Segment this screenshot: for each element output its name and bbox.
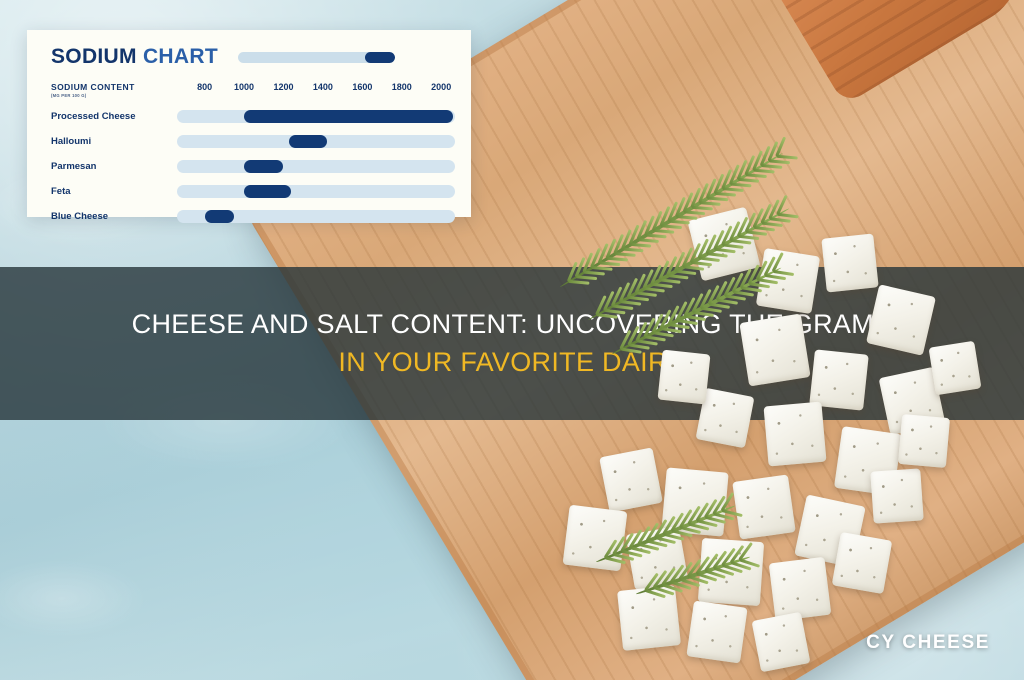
bar-row: Parmesan <box>51 154 455 179</box>
bar-track <box>177 185 455 198</box>
bar-track <box>177 160 455 173</box>
feta-cube <box>599 447 663 512</box>
feta-cube <box>929 341 982 396</box>
header-meter-track <box>238 52 395 63</box>
bar-fill-blue-cheese <box>205 210 235 223</box>
axis-tick-2000: 2000 <box>431 82 451 92</box>
feta-cube <box>739 314 810 387</box>
watermark-logo: CY CHEESE <box>866 632 990 654</box>
card-header: SODIUM CHART <box>51 42 455 72</box>
feta-cube <box>769 557 832 621</box>
axis-tick-1000: 1000 <box>234 82 254 92</box>
axis-tick-1800: 1800 <box>392 82 412 92</box>
bar-fill-parmesan <box>244 160 283 173</box>
bar-track <box>177 110 455 123</box>
axis-tick-800: 800 <box>197 82 212 92</box>
axis-tick-1600: 1600 <box>352 82 372 92</box>
bar-row: Feta <box>51 179 455 204</box>
feta-cube <box>686 601 747 664</box>
axis-subtitle: (MG PER 100 G) <box>51 93 177 98</box>
feta-cube <box>832 532 893 594</box>
feta-cube <box>763 402 826 467</box>
bar-fill-halloumi <box>289 135 326 148</box>
bar-track <box>177 210 455 223</box>
axis-tick-1400: 1400 <box>313 82 333 92</box>
feta-cube <box>898 414 950 468</box>
bar-fill-feta <box>244 185 291 198</box>
axis-row: SODIUM CONTENT (MG PER 100 G) 8001000120… <box>51 82 455 104</box>
bar-label-feta: Feta <box>51 186 177 197</box>
bar-track <box>177 135 455 148</box>
chart-title-part-2: CHART <box>143 45 218 68</box>
bar-label-halloumi: Halloumi <box>51 136 177 147</box>
axis-title: SODIUM CONTENT <box>51 82 177 92</box>
chart-title-part-1: SODIUM <box>51 45 137 68</box>
header-meter-fill <box>365 52 395 63</box>
bar-row: Halloumi <box>51 129 455 154</box>
feta-cube <box>870 468 924 523</box>
bar-fill-processed-cheese <box>244 110 453 123</box>
feta-cube <box>732 474 796 539</box>
chart-title: SODIUM CHART <box>51 45 218 69</box>
bar-label-blue-cheese: Blue Cheese <box>51 211 177 222</box>
axis-tick-1200: 1200 <box>273 82 293 92</box>
feta-cube <box>751 612 810 673</box>
bar-label-processed-cheese: Processed Cheese <box>51 111 177 122</box>
screenshot-canvas: SODIUM CHART SODIUM CONTENT (MG PER 100 … <box>0 0 1024 680</box>
bar-row: Processed Cheese <box>51 104 455 129</box>
feta-cube <box>821 233 878 292</box>
bar-row: Blue Cheese <box>51 204 455 229</box>
sodium-chart-card: SODIUM CHART SODIUM CONTENT (MG PER 100 … <box>27 30 471 217</box>
bar-label-parmesan: Parmesan <box>51 161 177 172</box>
feta-cube <box>658 350 711 405</box>
bar-rows: Processed CheeseHalloumiParmesanFetaBlue… <box>51 104 455 229</box>
axis-title-block: SODIUM CONTENT (MG PER 100 G) <box>51 82 177 98</box>
axis-tick-labels: 800100012001400160018002000 <box>177 82 455 96</box>
